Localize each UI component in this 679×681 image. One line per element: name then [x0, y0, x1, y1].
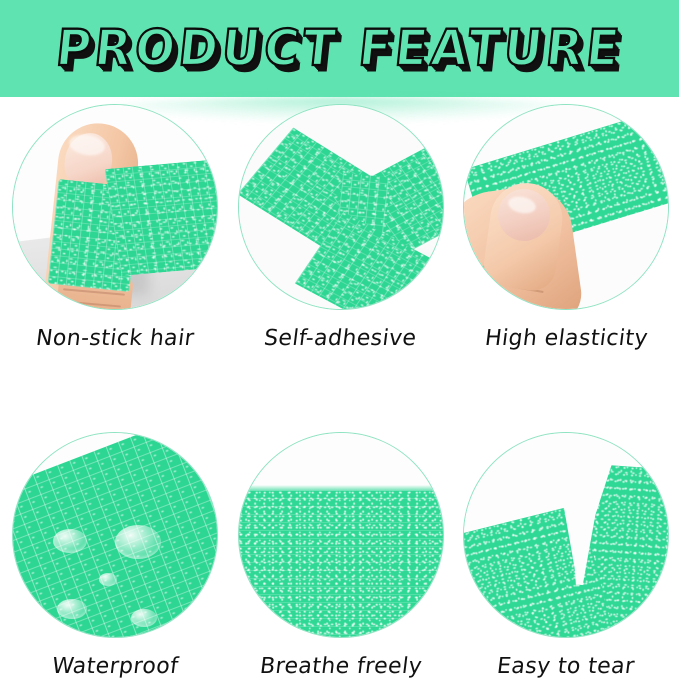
feature-label-waterproof: Waterproof: [50, 653, 180, 681]
water-droplet: [53, 529, 87, 553]
bandage-strip: [105, 158, 218, 276]
feature-grid: Non-stick hair Self-adhesive: [0, 104, 679, 681]
feature-image-self-adhesive: [238, 104, 444, 310]
feature-label-non-stick-hair: Non-stick hair: [34, 325, 195, 353]
bandage-mesh-closeup: [238, 491, 444, 638]
feature-cell-waterproof[interactable]: Waterproof: [12, 432, 218, 681]
feature-image-high-elasticity: [463, 104, 669, 310]
water-droplet: [115, 525, 161, 559]
feature-cell-breathe-freely[interactable]: Breathe freely: [238, 432, 444, 681]
feature-row: Non-stick hair Self-adhesive: [0, 104, 679, 353]
water-droplet: [99, 573, 117, 586]
feature-label-high-elasticity: High elasticity: [483, 325, 649, 353]
feature-image-waterproof: [12, 432, 218, 638]
water-droplet: [57, 599, 87, 619]
feature-cell-self-adhesive[interactable]: Self-adhesive: [238, 104, 444, 353]
feature-row: Waterproof Breathe freely Easy to tear: [0, 432, 679, 681]
feature-label-breathe-freely: Breathe freely: [258, 653, 423, 681]
page-title: PRODUCT FEATURE: [0, 0, 679, 97]
feature-cell-high-elasticity[interactable]: High elasticity: [463, 104, 669, 353]
feature-cell-easy-to-tear[interactable]: Easy to tear: [463, 432, 669, 681]
feature-cell-non-stick-hair[interactable]: Non-stick hair: [12, 104, 218, 353]
feature-image-non-stick-hair: [12, 104, 218, 310]
feature-label-easy-to-tear: Easy to tear: [496, 653, 637, 681]
feature-image-easy-to-tear: [463, 432, 669, 638]
feature-image-breathe-freely: [238, 432, 444, 638]
header-banner: PRODUCT FEATURE: [0, 0, 679, 97]
feature-label-self-adhesive: Self-adhesive: [263, 325, 419, 353]
water-droplet: [131, 609, 157, 627]
